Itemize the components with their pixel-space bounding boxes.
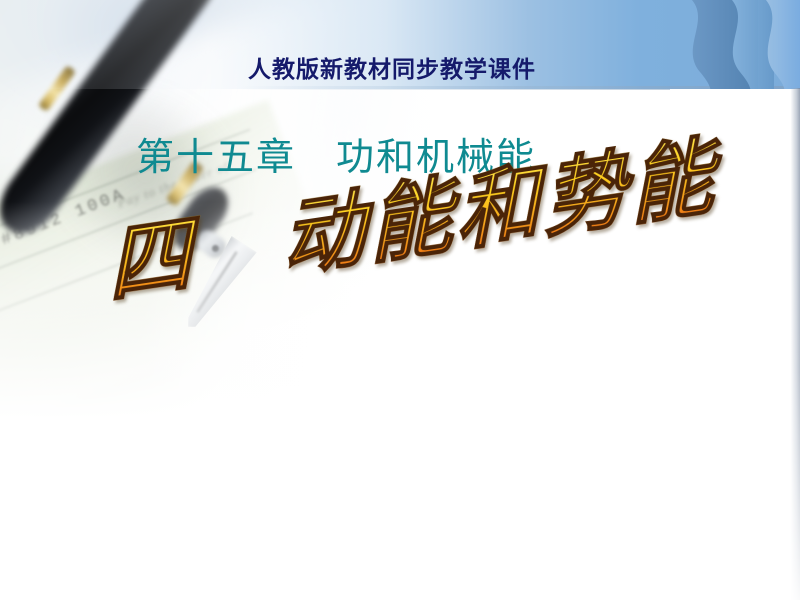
slide-canvas: #8912 100A Pay to the order of bbox=[0, 0, 800, 600]
main-title-wordart: 四 动能和势能 bbox=[110, 222, 730, 382]
ribbon-svg bbox=[670, 0, 800, 96]
ribbon-decoration bbox=[670, 0, 800, 96]
course-header-text: 人教版新教材同步教学课件 bbox=[248, 50, 536, 84]
slide-right-edge-fade bbox=[788, 88, 800, 600]
